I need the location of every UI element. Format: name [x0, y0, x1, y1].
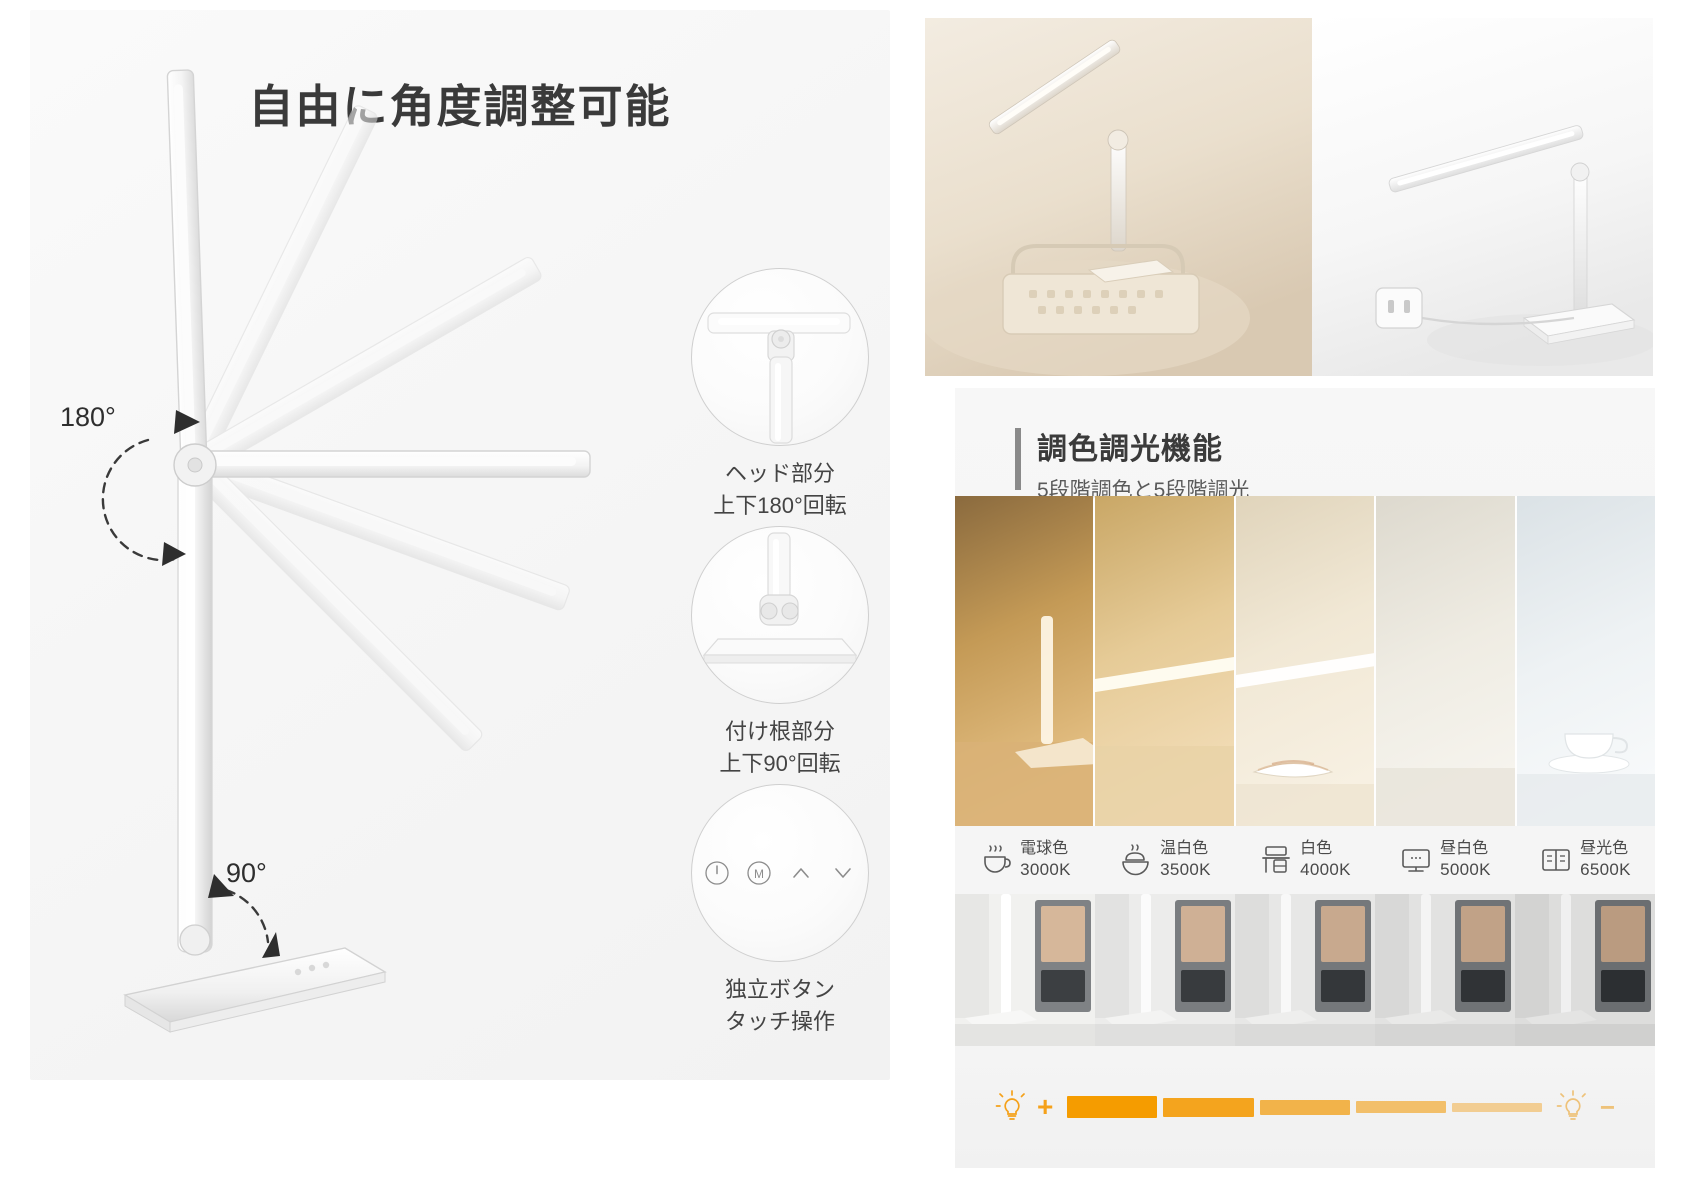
monitor-icon — [1399, 843, 1433, 877]
ct-label-3000k: 電球色 3000K — [955, 839, 1095, 880]
coffee-cup-icon — [979, 843, 1013, 877]
dim-slice-4 — [1095, 894, 1235, 1046]
lamp-positions-svg — [30, 10, 670, 1080]
ct-slice-4000k-svg — [1236, 496, 1374, 826]
base-joint-illustration — [692, 527, 868, 703]
lamp-over-desk-warm-photo — [925, 18, 1312, 376]
feature-card-header: 調色調光機能 5段階調色と5段階調光 — [1015, 424, 1249, 504]
ct-kelvin-5000k: 5000K — [1440, 859, 1491, 880]
brightness-segment-4[interactable] — [1163, 1098, 1253, 1117]
brightness-minus-sign: − — [1600, 1092, 1615, 1123]
dim-slice-1-svg — [1515, 894, 1655, 1046]
callout-base-line1: 付け根部分 — [680, 716, 880, 748]
brightness-segment-1[interactable] — [1452, 1103, 1542, 1112]
callout-head-text: ヘッド部分 上下180°回転 — [680, 458, 880, 522]
color-temperature-label-row: 電球色 3000K 温白色 3500K — [955, 826, 1655, 894]
ct-name-3500k: 温白色 — [1160, 839, 1211, 859]
callout-touch-line1: 独立ボタン — [680, 974, 880, 1006]
dim-slice-2-svg — [1375, 894, 1515, 1046]
open-book-icon — [1539, 843, 1573, 877]
lamp-illustration: 180° 90° — [30, 10, 670, 1080]
color-dimming-feature-card: 調色調光機能 5段階調色と5段階調光 — [955, 388, 1655, 1168]
angle-label-90: 90° — [226, 858, 267, 889]
touch-button-row: M — [692, 860, 868, 886]
infographic-canvas: 自由に角度調整可能 — [0, 0, 1684, 1190]
ct-slice-3500k-svg — [1095, 496, 1233, 826]
power-icon[interactable] — [704, 860, 730, 886]
bulb-plus-icon — [995, 1090, 1029, 1124]
accent-bar — [1015, 428, 1021, 490]
ct-slice-5000k-svg — [1376, 496, 1514, 826]
lamp-head-joint-icon — [691, 268, 869, 446]
ct-slice-3500k — [1093, 496, 1233, 826]
ct-name-4000k: 白色 — [1300, 839, 1351, 859]
color-temperature-photo-strip — [955, 496, 1655, 826]
lamp-base-joint-icon — [691, 526, 869, 704]
ct-label-4000k-text: 白色 4000K — [1300, 839, 1351, 880]
folded-lamp-svg — [1312, 18, 1653, 376]
dim-slice-2 — [1375, 894, 1515, 1046]
ct-name-3000k: 電球色 — [1020, 839, 1071, 859]
ct-name-6500k: 昼光色 — [1580, 839, 1631, 859]
callout-base-line2: 上下90°回転 — [680, 748, 880, 780]
callout-head-rotation: ヘッド部分 上下180°回転 — [680, 268, 880, 522]
ct-label-3000k-text: 電球色 3000K — [1020, 839, 1071, 880]
ct-name-5000k: 昼白色 — [1440, 839, 1491, 859]
angle-label-180: 180° — [60, 402, 116, 433]
ct-slice-6500k — [1515, 496, 1655, 826]
ct-kelvin-4000k: 4000K — [1300, 859, 1351, 880]
ct-label-5000k-text: 昼白色 5000K — [1440, 839, 1491, 880]
chevron-up-icon[interactable] — [788, 860, 814, 886]
desk-icon — [1259, 843, 1293, 877]
dim-slice-4-svg — [1095, 894, 1235, 1046]
ct-label-3500k-text: 温白色 3500K — [1160, 839, 1211, 880]
callout-touch-text: 独立ボタン タッチ操作 — [680, 974, 880, 1038]
dim-slice-3-svg — [1235, 894, 1375, 1046]
ct-slice-4000k — [1234, 496, 1374, 826]
callout-touch-buttons: M 独立ボタン タッチ操作 — [680, 784, 880, 1038]
ct-kelvin-6500k: 6500K — [1580, 859, 1631, 880]
feature-card-title: 調色調光機能 — [1037, 424, 1249, 468]
callout-touch-line2: タッチ操作 — [680, 1006, 880, 1038]
ct-slice-3000k-svg — [955, 496, 1093, 826]
angle-adjustment-panel: 自由に角度調整可能 — [30, 10, 890, 1080]
callout-head-line2: 上下180°回転 — [680, 490, 880, 522]
callout-base-text: 付け根部分 上下90°回転 — [680, 716, 880, 780]
ct-kelvin-3500k: 3500K — [1160, 859, 1211, 880]
brightness-segment-2[interactable] — [1356, 1101, 1446, 1113]
brightness-plus-sign: + — [1037, 1091, 1053, 1123]
lamp-folded-with-plug-photo — [1312, 18, 1653, 376]
callout-head-line1: ヘッド部分 — [680, 458, 880, 490]
brightness-segment-3[interactable] — [1260, 1100, 1350, 1115]
dim-slice-5 — [955, 894, 1095, 1046]
brightness-segments[interactable] — [1067, 1096, 1541, 1118]
brightness-slider-row[interactable]: + − — [955, 1046, 1655, 1168]
ct-slice-6500k-svg — [1517, 496, 1655, 826]
ct-label-5000k: 昼白色 5000K — [1375, 839, 1515, 880]
ct-label-4000k: 白色 4000K — [1235, 839, 1375, 880]
brightness-segment-5[interactable] — [1067, 1096, 1157, 1118]
ct-label-6500k-text: 昼光色 6500K — [1580, 839, 1631, 880]
callout-base-rotation: 付け根部分 上下90°回転 — [680, 526, 880, 780]
dim-slice-1 — [1515, 894, 1655, 1046]
product-photo-row — [925, 18, 1653, 376]
ct-slice-3000k — [955, 496, 1093, 826]
touch-panel-icon: M — [691, 784, 869, 962]
warm-scene-svg — [925, 18, 1312, 376]
chevron-down-icon[interactable] — [830, 860, 856, 886]
warm-bowl-icon — [1119, 843, 1153, 877]
ct-label-6500k: 昼光色 6500K — [1515, 839, 1655, 880]
dim-slice-3 — [1235, 894, 1375, 1046]
ct-kelvin-3000k: 3000K — [1020, 859, 1071, 880]
dim-slice-5-svg — [955, 894, 1095, 1046]
ct-label-3500k: 温白色 3500K — [1095, 839, 1235, 880]
head-joint-illustration — [692, 269, 868, 445]
ct-slice-5000k — [1374, 496, 1514, 826]
dimming-photo-strip — [955, 894, 1655, 1046]
bulb-minus-icon — [1556, 1090, 1590, 1124]
svg-text:M: M — [754, 867, 764, 881]
mode-m-icon[interactable]: M — [746, 860, 772, 886]
